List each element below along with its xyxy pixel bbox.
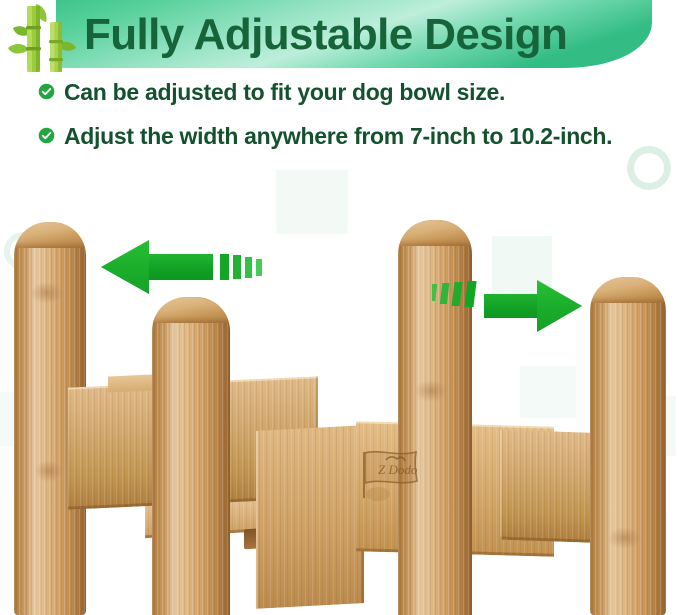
list-item: Adjust the width anywhere from 7-inch to… (38, 121, 658, 151)
bamboo-stalks-icon (6, 0, 80, 72)
infographic-root: Fully Adjustable Design Can be adjusted … (0, 0, 679, 615)
page-title: Fully Adjustable Design (84, 7, 679, 63)
center-slider-block (256, 425, 364, 609)
list-item: Can be adjusted to fit your dog bowl siz… (38, 77, 658, 107)
svg-text:Z Dodo: Z Dodo (378, 462, 418, 477)
leg-front-left (152, 496, 230, 615)
leg-front-center (398, 526, 472, 615)
arrow-expand-left (97, 236, 267, 298)
list-item-label: Can be adjusted to fit your dog bowl siz… (64, 77, 505, 107)
check-circle-icon (38, 127, 55, 144)
list-item-label: Adjust the width anywhere from 7-inch to… (64, 121, 612, 151)
feature-list: Can be adjusted to fit your dog bowl siz… (38, 77, 658, 165)
arrow-expand-right (432, 278, 584, 334)
product-photo: Z Dodo (0, 196, 679, 615)
post-right-outer (590, 277, 666, 615)
check-circle-icon (38, 83, 55, 100)
engraved-flag-logo: Z Dodo (356, 448, 426, 502)
